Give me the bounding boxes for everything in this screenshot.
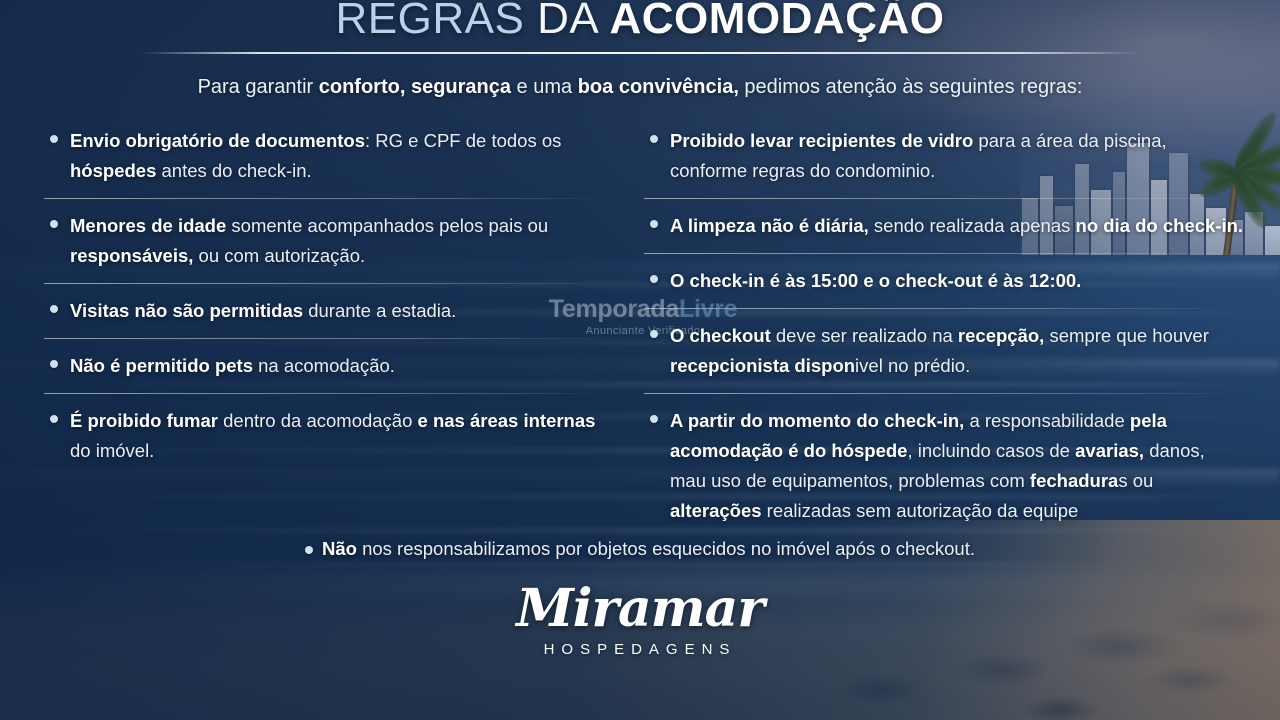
watermark-part-temporada: Temporada (549, 295, 679, 323)
subtitle-bold-1: conforto, segurança (319, 76, 511, 98)
site-watermark: TemporadaLivre Anunciante Verificado (528, 296, 758, 337)
rule-text: ou com autorização. (193, 245, 365, 266)
final-note-bold: Não (322, 538, 357, 559)
brand-logo: Miramar HOSPEDAGENS (0, 578, 1280, 658)
rule-item: Envio obrigatório de documentos: RG e CP… (44, 126, 614, 186)
rule-bold: Proibido levar recipientes de vidro (670, 130, 973, 151)
rule-bold: recepcionista dispon (670, 355, 855, 376)
subtitle-text-2: e uma (511, 76, 578, 98)
rule-bold: A limpeza não é diária, (670, 215, 869, 236)
bullet-dot-icon (50, 415, 58, 423)
rule-text: realizadas sem autorização da equipe (762, 500, 1079, 521)
rule-text: : RG e CPF de todos os (365, 130, 561, 151)
bullet-dot-icon (50, 135, 58, 143)
rule-bold: Menores de idade (70, 215, 226, 236)
title-part-da: DA (524, 0, 609, 43)
page-title: REGRAS DA ACOMODAÇÃO (0, 0, 1280, 42)
rule-item: O check-in é às 15:00 e o check-out é às… (644, 266, 1244, 296)
rule-text: a responsabilidade (964, 410, 1130, 431)
bullet-dot-icon (50, 305, 58, 313)
rule-text: dentro da acomodação (218, 410, 418, 431)
rule-text: sendo realizada apenas (869, 215, 1076, 236)
logo-tagline: HOSPEDAGENS (0, 641, 1280, 658)
watermark-part-livre: Livre (679, 295, 737, 323)
rule-item: É proibido fumar dentro da acomodação e … (44, 406, 614, 466)
subtitle-text-1: Para garantir (198, 76, 319, 98)
rule-divider (44, 393, 608, 394)
rule-bold: recepção, (958, 325, 1044, 346)
rule-divider (644, 393, 1238, 394)
rule-item: A limpeza não é diária, sendo realizada … (644, 211, 1244, 241)
title-part-regras: REGRAS (336, 0, 525, 43)
rule-text: durante a estadia. (303, 300, 456, 321)
rule-bold: no dia do check-in. (1076, 215, 1244, 236)
rule-bold: responsáveis, (70, 245, 193, 266)
rule-bold: fechadura (1030, 470, 1118, 491)
rule-divider (644, 198, 1238, 199)
rule-bold: O check-in é às 15:00 e o check-out é às… (670, 270, 1081, 291)
bullet-dot-icon (50, 220, 58, 228)
final-note: Não nos responsabilizamos por objetos es… (0, 538, 1280, 560)
rule-bold: É proibido fumar (70, 410, 218, 431)
rule-bold: avarias, (1075, 440, 1144, 461)
rule-bold: Não é permitido pets (70, 355, 253, 376)
bullet-dot-icon (650, 415, 658, 423)
rule-divider (44, 198, 608, 199)
rule-text: na acomodação. (253, 355, 395, 376)
bullet-dot-icon (650, 275, 658, 283)
rule-divider (44, 338, 608, 339)
rule-text: sempre que houver (1044, 325, 1209, 346)
rule-bold: alterações (670, 500, 762, 521)
rule-text: , incluindo casos de (907, 440, 1075, 461)
rule-item: Menores de idade somente acompanhados pe… (44, 211, 614, 271)
rule-text: ivel no prédio. (855, 355, 970, 376)
rule-bold: Envio obrigatório de documentos (70, 130, 365, 151)
bullet-dot-icon (650, 135, 658, 143)
rule-text: deve ser realizado na (771, 325, 958, 346)
logo-wordmark: Miramar (0, 578, 1280, 639)
rule-text: antes do check-in. (156, 160, 311, 181)
bullet-dot-icon (305, 546, 313, 554)
final-note-text: nos responsabilizamos por objetos esquec… (357, 538, 975, 559)
bullet-dot-icon (650, 220, 658, 228)
header-divider (140, 52, 1140, 54)
rule-divider (644, 253, 1238, 254)
page-subtitle: Para garantir conforto, segurança e uma … (0, 76, 1280, 99)
rule-bold: hóspedes (70, 160, 156, 181)
rule-item: Proibido levar recipientes de vidro para… (644, 126, 1244, 186)
watermark-subtitle: Anunciante Verificado (528, 325, 758, 337)
rule-bold: A partir do momento do check-in, (670, 410, 964, 431)
rule-bold: e nas áreas internas (418, 410, 596, 431)
rule-text: do imóvel. (70, 440, 154, 461)
subtitle-bold-2: boa convivência, (578, 76, 739, 98)
rule-item: Não é permitido pets na acomodação. (44, 351, 614, 381)
subtitle-text-3: pedimos atenção às seguintes regras: (739, 76, 1083, 98)
rule-text: somente acompanhados pelos pais ou (226, 215, 548, 236)
rule-item: A partir do momento do check-in, a respo… (644, 406, 1244, 526)
rule-divider (44, 283, 608, 284)
rule-text: s ou (1118, 470, 1153, 491)
rule-bold: Visitas não são permitidas (70, 300, 303, 321)
bullet-dot-icon (50, 360, 58, 368)
title-part-acomodacao: ACOMODAÇÃO (610, 0, 945, 43)
